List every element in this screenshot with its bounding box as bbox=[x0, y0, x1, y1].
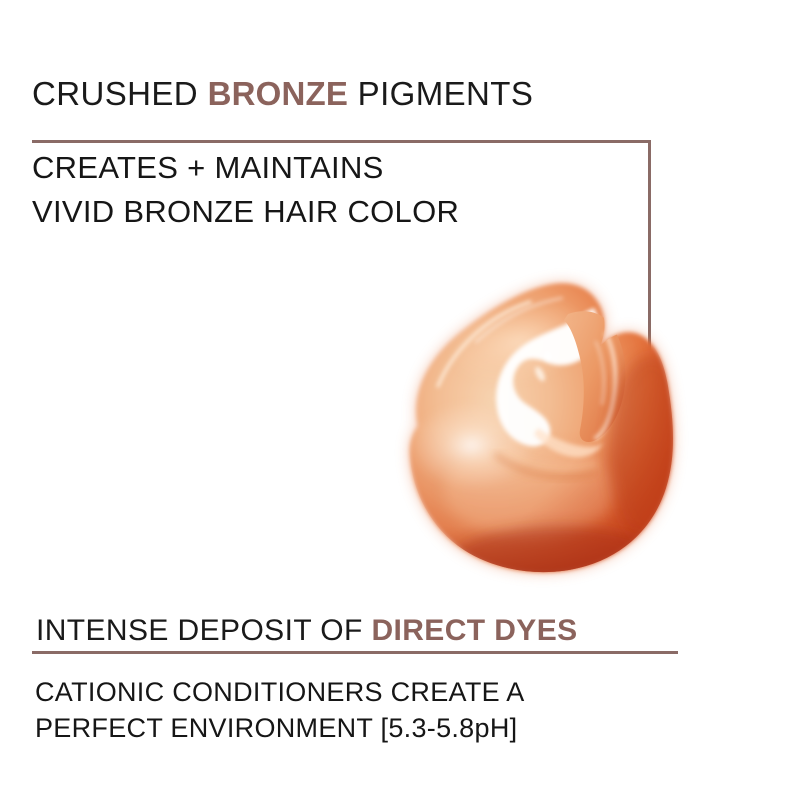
top-headline: CRUSHED BRONZE PIGMENTS bbox=[32, 74, 533, 114]
bottom-headline: INTENSE DEPOSIT OF DIRECT DYES bbox=[36, 612, 578, 650]
bottom-body-line-2: PERFECT ENVIRONMENT [5.3-5.8pH] bbox=[35, 712, 517, 744]
top-rule-horizontal bbox=[32, 140, 651, 143]
top-headline-prefix: CRUSHED bbox=[32, 75, 208, 112]
bottom-headline-prefix: INTENSE DEPOSIT OF bbox=[36, 614, 371, 647]
bottom-rule-underline bbox=[32, 651, 678, 654]
top-headline-suffix: PIGMENTS bbox=[348, 75, 533, 112]
poster-canvas: CRUSHED BRONZE PIGMENTS CREATES + MAINTA… bbox=[0, 0, 800, 800]
top-subline-2: VIVID BRONZE HAIR COLOR bbox=[32, 194, 459, 230]
cream-dollop-graphic bbox=[380, 250, 700, 590]
top-rule-vertical bbox=[648, 140, 651, 352]
top-subline-1: CREATES + MAINTAINS bbox=[32, 150, 384, 186]
top-headline-accent: BRONZE bbox=[208, 75, 349, 112]
bottom-headline-accent: DIRECT DYES bbox=[371, 614, 577, 647]
bottom-body-line-1: CATIONIC CONDITIONERS CREATE A bbox=[35, 676, 525, 708]
